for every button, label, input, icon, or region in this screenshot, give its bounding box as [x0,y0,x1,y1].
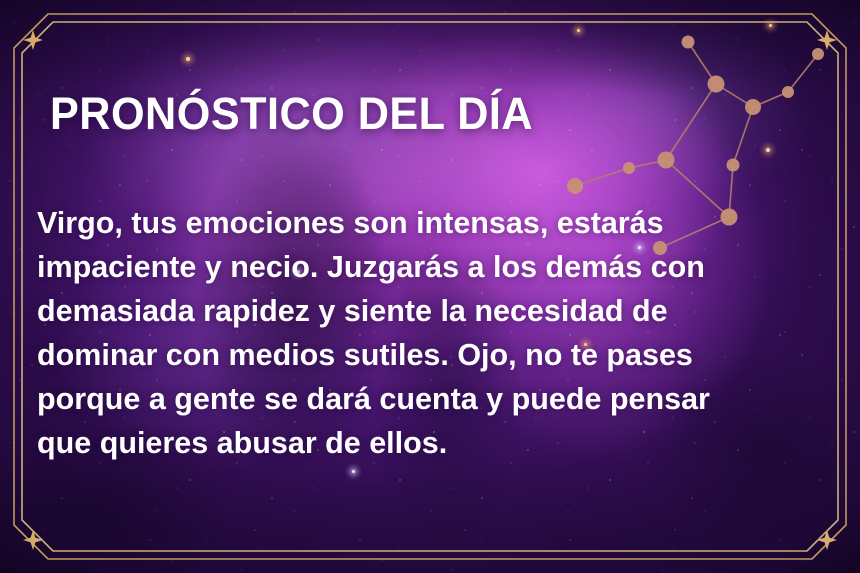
body-line: dominar con medios sutiles. Ojo, no te p… [37,333,797,377]
page-title: PRONÓSTICO DEL DÍA [50,91,533,136]
card-content: PRONÓSTICO DEL DÍA Virgo, tus emociones … [0,0,860,573]
horoscope-body-text: Virgo, tus emociones son intensas, estar… [37,201,797,465]
horoscope-card: PRONÓSTICO DEL DÍA Virgo, tus emociones … [0,0,860,573]
body-line: impaciente y necio. Juzgarás a los demás… [37,245,797,289]
body-line: Virgo, tus emociones son intensas, estar… [37,201,797,245]
body-line: demasiada rapidez y siente la necesidad … [37,289,797,333]
body-line: porque a gente se dará cuenta y puede pe… [37,377,797,421]
body-line: que quieres abusar de ellos. [37,421,797,465]
